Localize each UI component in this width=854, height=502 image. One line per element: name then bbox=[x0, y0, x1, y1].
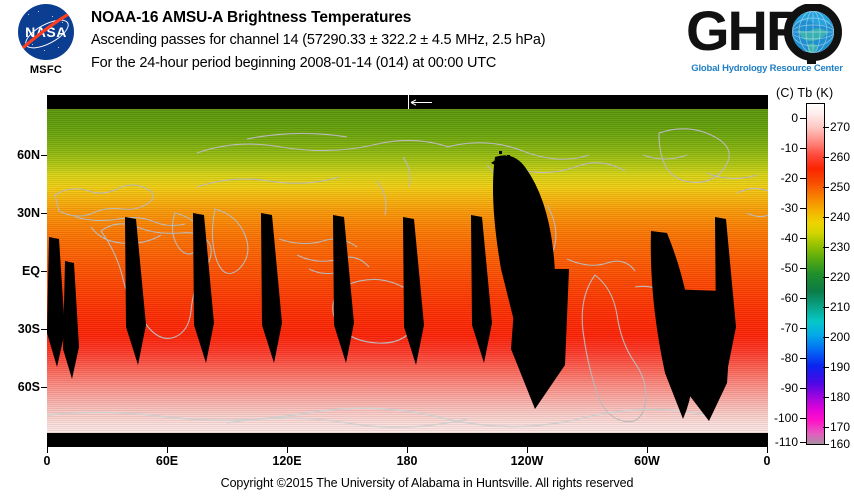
lat-tick-60s bbox=[41, 387, 47, 388]
cbar-k-label-260: 260 bbox=[830, 150, 854, 164]
copyright-notice: Copyright ©2015 The University of Alabam… bbox=[0, 476, 854, 490]
cbar-k-label-180: 180 bbox=[830, 390, 854, 404]
nasa-insignia-icon: NASA bbox=[18, 4, 74, 60]
cbar-k-label-250: 250 bbox=[830, 180, 854, 194]
cbar-c-tick-m40 bbox=[800, 238, 806, 239]
lon-tick-360e bbox=[767, 447, 768, 453]
map-bottom-border bbox=[47, 433, 768, 447]
cbar-k-label-230: 230 bbox=[830, 240, 854, 254]
cbar-k-tick-180 bbox=[823, 397, 829, 398]
cbar-k-label-270: 270 bbox=[830, 120, 854, 134]
cbar-k-tick-190 bbox=[823, 367, 829, 368]
lon-tick-60w bbox=[647, 447, 648, 453]
cbar-k-label-200: 200 bbox=[830, 330, 854, 344]
lon-tick-180 bbox=[407, 447, 408, 453]
cbar-c-tick-m90 bbox=[800, 388, 806, 389]
cbar-c-label-m30: -30 bbox=[770, 201, 798, 215]
cbar-c-tick-m60 bbox=[800, 298, 806, 299]
cbar-k-label-220: 220 bbox=[830, 270, 854, 284]
cbar-k-tick-160 bbox=[823, 444, 829, 445]
lon-tick-120e bbox=[287, 447, 288, 453]
brightness-temperature-map bbox=[47, 109, 768, 433]
cbar-c-label-m110: -110 bbox=[770, 435, 798, 449]
lon-label-60w: 60W bbox=[627, 454, 667, 468]
lat-label-eq: EQ bbox=[2, 264, 40, 278]
cbar-k-label-190: 190 bbox=[830, 360, 854, 374]
page-header: NASA MSFC NOAA-16 AMSU-A Brightness Temp… bbox=[0, 0, 854, 88]
title-block: NOAA-16 AMSU-A Brightness Temperatures A… bbox=[91, 7, 681, 75]
lat-tick-eq bbox=[41, 271, 47, 272]
cbar-c-tick-m100 bbox=[800, 418, 806, 419]
swath-direction-arrow-icon bbox=[409, 99, 433, 106]
cbar-k-label-160: 160 bbox=[830, 437, 854, 451]
cbar-k-tick-270 bbox=[823, 127, 829, 128]
cbar-c-tick-m110 bbox=[800, 442, 806, 443]
lat-tick-60n bbox=[41, 155, 47, 156]
nasa-logo: NASA MSFC bbox=[10, 4, 82, 84]
cbar-c-label-m70: -70 bbox=[770, 321, 798, 335]
cbar-c-tick-m50 bbox=[800, 268, 806, 269]
cbar-c-tick-m80 bbox=[800, 358, 806, 359]
lon-label-180: 180 bbox=[387, 454, 427, 468]
cbar-c-label-m50: -50 bbox=[770, 261, 798, 275]
page-title: NOAA-16 AMSU-A Brightness Temperatures bbox=[91, 7, 681, 29]
lat-tick-30n bbox=[41, 213, 47, 214]
cbar-c-label-m90: -90 bbox=[770, 381, 798, 395]
lon-label-60e: 60E bbox=[147, 454, 187, 468]
cbar-c-tick-0 bbox=[800, 118, 806, 119]
cbar-c-label-m80: -80 bbox=[770, 351, 798, 365]
colorbar-header: (C) Tb (K) bbox=[776, 86, 854, 100]
lat-label-60n: 60N bbox=[2, 148, 40, 162]
cbar-k-tick-260 bbox=[823, 157, 829, 158]
nasa-center-label: MSFC bbox=[10, 64, 82, 76]
nasa-swoosh-icon bbox=[18, 8, 74, 56]
lon-tick-60e bbox=[167, 447, 168, 453]
page-subtitle-channel: Ascending passes for channel 14 (57290.3… bbox=[91, 29, 681, 52]
lon-label-120w: 120W bbox=[507, 454, 547, 468]
cbar-k-tick-250 bbox=[823, 187, 829, 188]
cbar-c-tick-m10 bbox=[800, 148, 806, 149]
cbar-c-label-m100: -100 bbox=[770, 411, 798, 425]
cbar-c-label-m40: -40 bbox=[770, 231, 798, 245]
lon-tick-120w bbox=[527, 447, 528, 453]
cbar-k-tick-220 bbox=[823, 277, 829, 278]
ghrc-tagline: Global Hydrology Resource Center bbox=[689, 63, 845, 74]
lat-tick-30s bbox=[41, 329, 47, 330]
cbar-c-label-m10: -10 bbox=[770, 141, 798, 155]
cbar-k-label-170: 170 bbox=[830, 420, 854, 434]
cbar-c-tick-m20 bbox=[800, 178, 806, 179]
cbar-c-label-m20: -20 bbox=[770, 171, 798, 185]
orbital-gap-overlay bbox=[47, 109, 768, 433]
cbar-c-tick-m70 bbox=[800, 328, 806, 329]
lon-tick-0e bbox=[47, 447, 48, 453]
cbar-k-tick-210 bbox=[823, 307, 829, 308]
cbar-c-tick-m30 bbox=[800, 208, 806, 209]
cbar-k-tick-230 bbox=[823, 247, 829, 248]
cbar-k-tick-240 bbox=[823, 217, 829, 218]
lon-label-120e: 120E bbox=[267, 454, 307, 468]
lat-label-30n: 30N bbox=[2, 206, 40, 220]
cbar-k-tick-170 bbox=[823, 427, 829, 428]
cbar-c-label-0: 0 bbox=[770, 111, 798, 125]
ghrc-logo: GHR Global Hydrology Resource Center bbox=[686, 6, 846, 80]
ghrc-wordmark-icon: GHR bbox=[686, 4, 846, 66]
colorbar-gradient bbox=[806, 103, 825, 445]
cbar-c-label-m60: -60 bbox=[770, 291, 798, 305]
lat-label-30s: 30S bbox=[2, 322, 40, 336]
cbar-k-tick-200 bbox=[823, 337, 829, 338]
lat-label-60s: 60S bbox=[2, 380, 40, 394]
cbar-k-label-240: 240 bbox=[830, 210, 854, 224]
lon-label-0e: 0 bbox=[27, 454, 67, 468]
cbar-k-label-210: 210 bbox=[830, 300, 854, 314]
map-plot-area bbox=[47, 95, 768, 447]
page-subtitle-period: For the 24-hour period beginning 2008-01… bbox=[91, 52, 681, 75]
lon-label-360e: 0 bbox=[747, 454, 787, 468]
